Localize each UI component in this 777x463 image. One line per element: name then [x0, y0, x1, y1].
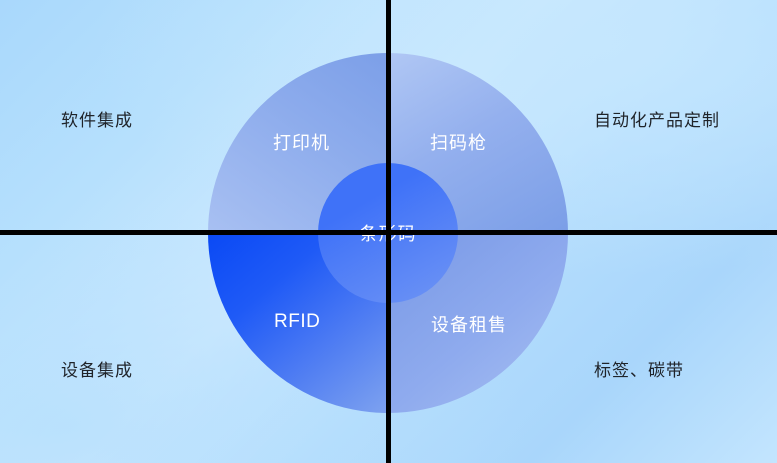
corner-label-labels-ribbons[interactable]: 标签、碳带: [594, 356, 684, 381]
quadrant-label-rfid[interactable]: RFID: [274, 311, 320, 333]
corner-label-automation-customization[interactable]: 自动化产品定制: [594, 106, 720, 131]
axis-horizontal: [0, 230, 777, 235]
corner-label-software-integration[interactable]: 软件集成: [61, 106, 133, 131]
quadrant-label-equipment-rental[interactable]: 设备租售: [431, 311, 507, 337]
corner-label-equipment-integration[interactable]: 设备集成: [61, 356, 133, 381]
quadrant-label-scanner[interactable]: 扫码枪: [430, 129, 487, 155]
diagram-canvas: 条形码 打印机 扫码枪 RFID 设备租售 软件集成 自动化产品定制 设备集成 …: [0, 0, 777, 463]
quadrant-label-printer[interactable]: 打印机: [273, 129, 330, 155]
